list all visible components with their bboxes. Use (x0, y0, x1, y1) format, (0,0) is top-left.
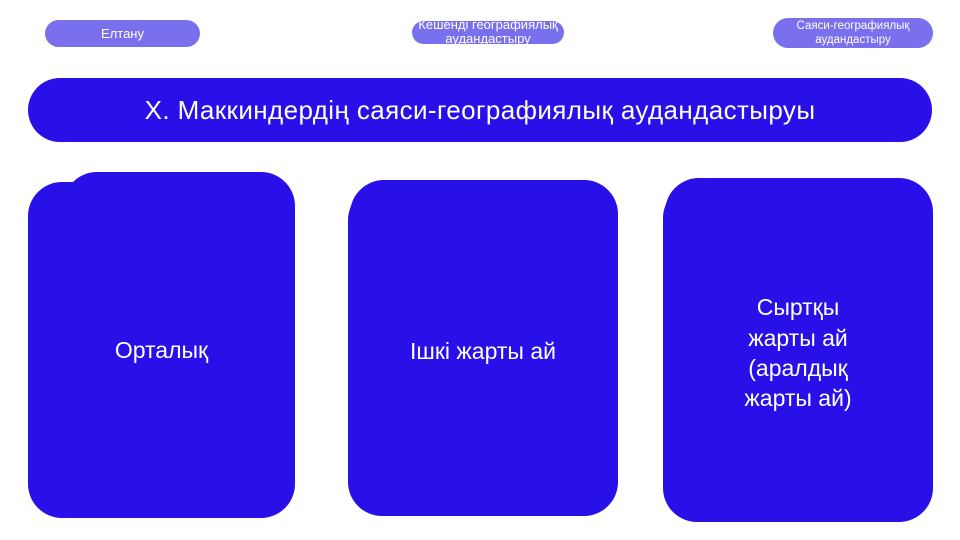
tab-sayasi-geografiyalyq-audandastyru[interactable]: Саяси-географиялық аудандастыру (773, 18, 933, 48)
tab-eltanu-label: Елтану (101, 27, 144, 41)
slide-canvas: Елтану Кешенді географиялық аудандастыру… (0, 0, 960, 540)
slide-title-banner: X. Маккиндердің саяси-географиялық аудан… (28, 78, 932, 142)
box-syrtqy-zharty-ai[interactable]: Сыртқы жарты ай (аралдық жарты ай) (663, 184, 933, 522)
box-ortalyq-label: Орталық (115, 337, 208, 364)
tab-eltanu[interactable]: Елтану (45, 20, 200, 47)
tab-keshendi-geografiyalyq-audandastyru-label: Кешенді географиялық аудандастыру (412, 21, 564, 44)
tab-keshendi-geografiyalyq-audandastyru[interactable]: Кешенді географиялық аудандастыру (412, 21, 564, 44)
box-syrtqy-zharty-ai-label: Сыртқы жарты ай (аралдық жарты ай) (744, 292, 851, 413)
box-ishki-zharty-ai[interactable]: Ішкі жарты ай (348, 186, 618, 516)
slide-title-text: X. Маккиндердің саяси-географиялық аудан… (145, 95, 816, 126)
tab-sayasi-geografiyalyq-audandastyru-label: Саяси-географиялық аудандастыру (773, 19, 933, 47)
box-ishki-zharty-ai-label: Ішкі жарты ай (410, 338, 556, 365)
box-ortalyq[interactable]: Орталық (28, 182, 295, 518)
